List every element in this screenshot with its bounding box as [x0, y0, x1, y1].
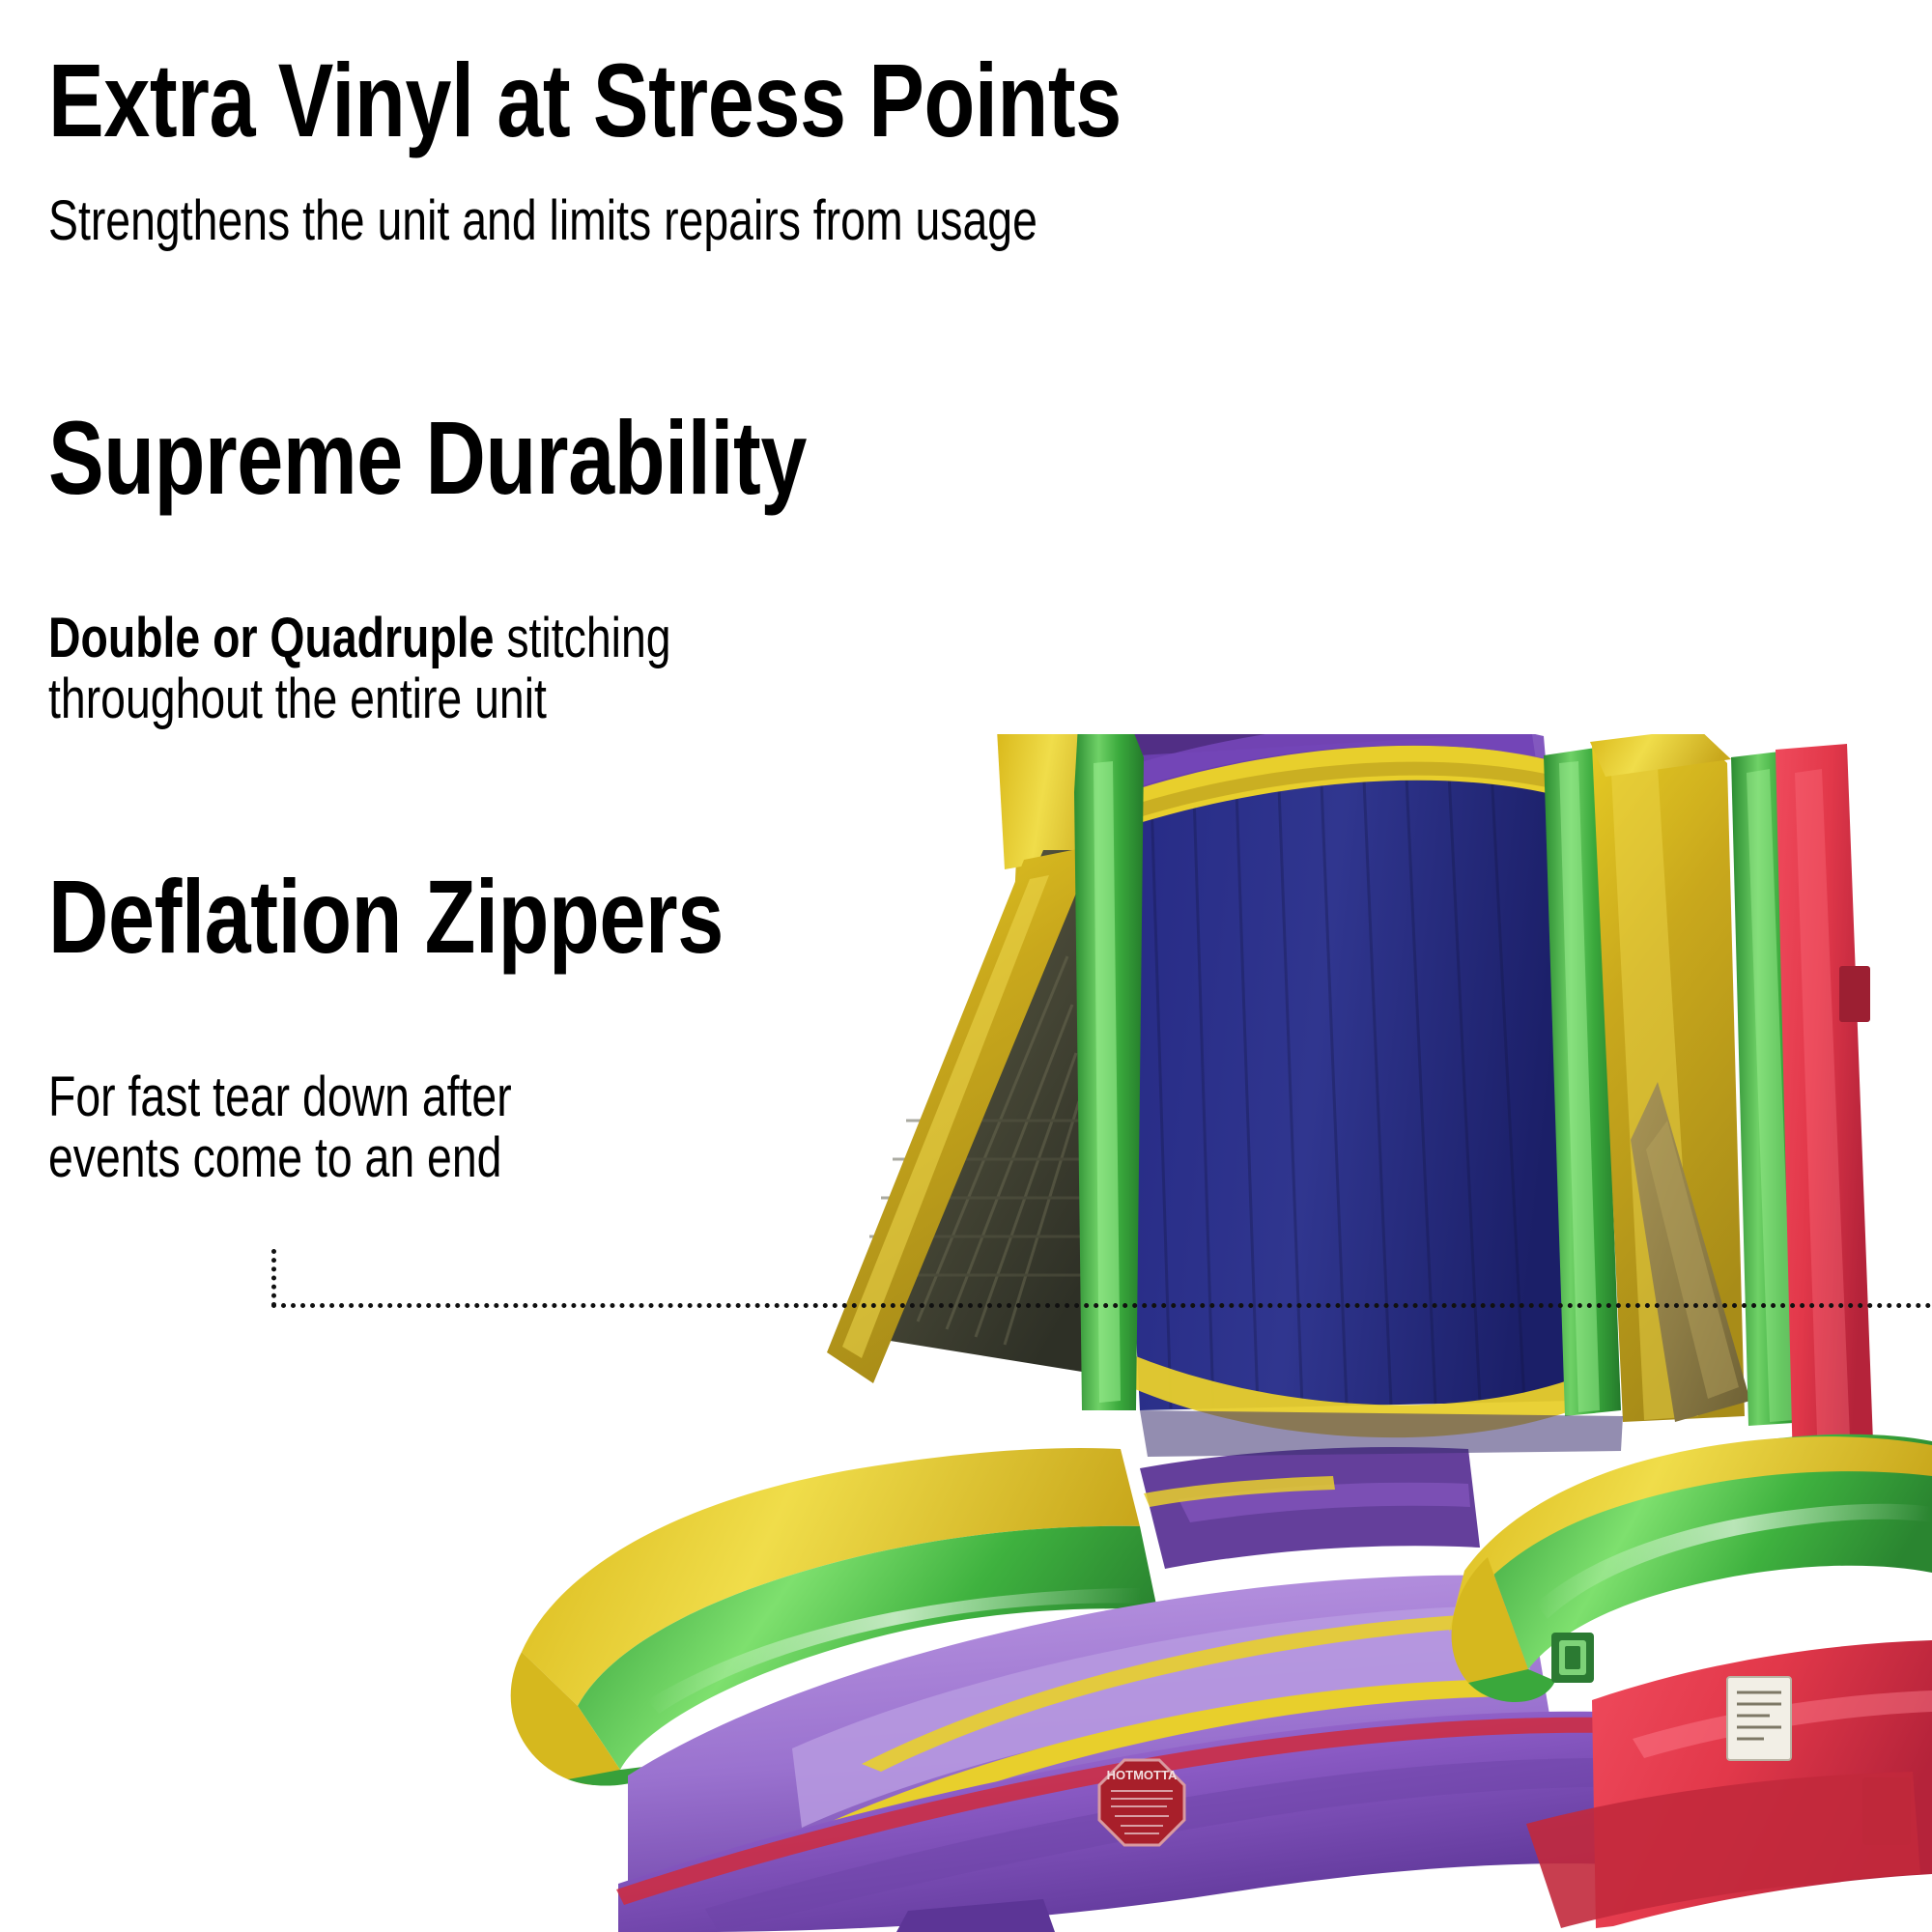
leader-line-vertical [271, 1249, 276, 1307]
feature-body-deflation-zippers: For fast tear down after events come to … [48, 1067, 512, 1188]
feature-body-stress-points: Strengthens the unit and limits repairs … [48, 191, 1037, 252]
feature-body-durability-emphasis: Double or Quadruple [48, 607, 494, 669]
svg-text:HOTMOTTA: HOTMOTTA [1107, 1768, 1178, 1782]
feature-body-durability-rest: stitching [494, 607, 670, 669]
deflation-zipper-tab [1551, 1633, 1594, 1683]
feature-title-stress-points: Extra Vinyl at Stress Points [48, 48, 1122, 153]
feature-body-zippers-line2: events come to an end [48, 1128, 512, 1189]
feature-body-durability: Double or Quadruple stitching throughout… [48, 609, 671, 729]
feature-body-durability-line2: throughout the entire unit [48, 669, 671, 730]
spec-label [1727, 1677, 1791, 1760]
feature-body-zippers-line1: For fast tear down after [48, 1065, 512, 1128]
red-wall-vent-tab [1839, 966, 1870, 1022]
feature-title-deflation-zippers: Deflation Zippers [48, 865, 724, 969]
feature-title-durability: Supreme Durability [48, 406, 807, 510]
leader-line-horizontal [271, 1303, 1932, 1308]
warning-sticker: HOTMOTTA [1099, 1760, 1184, 1845]
poster-canvas: HOTMOTTA Extra Vinyl at Stress Poin [0, 0, 1932, 1932]
